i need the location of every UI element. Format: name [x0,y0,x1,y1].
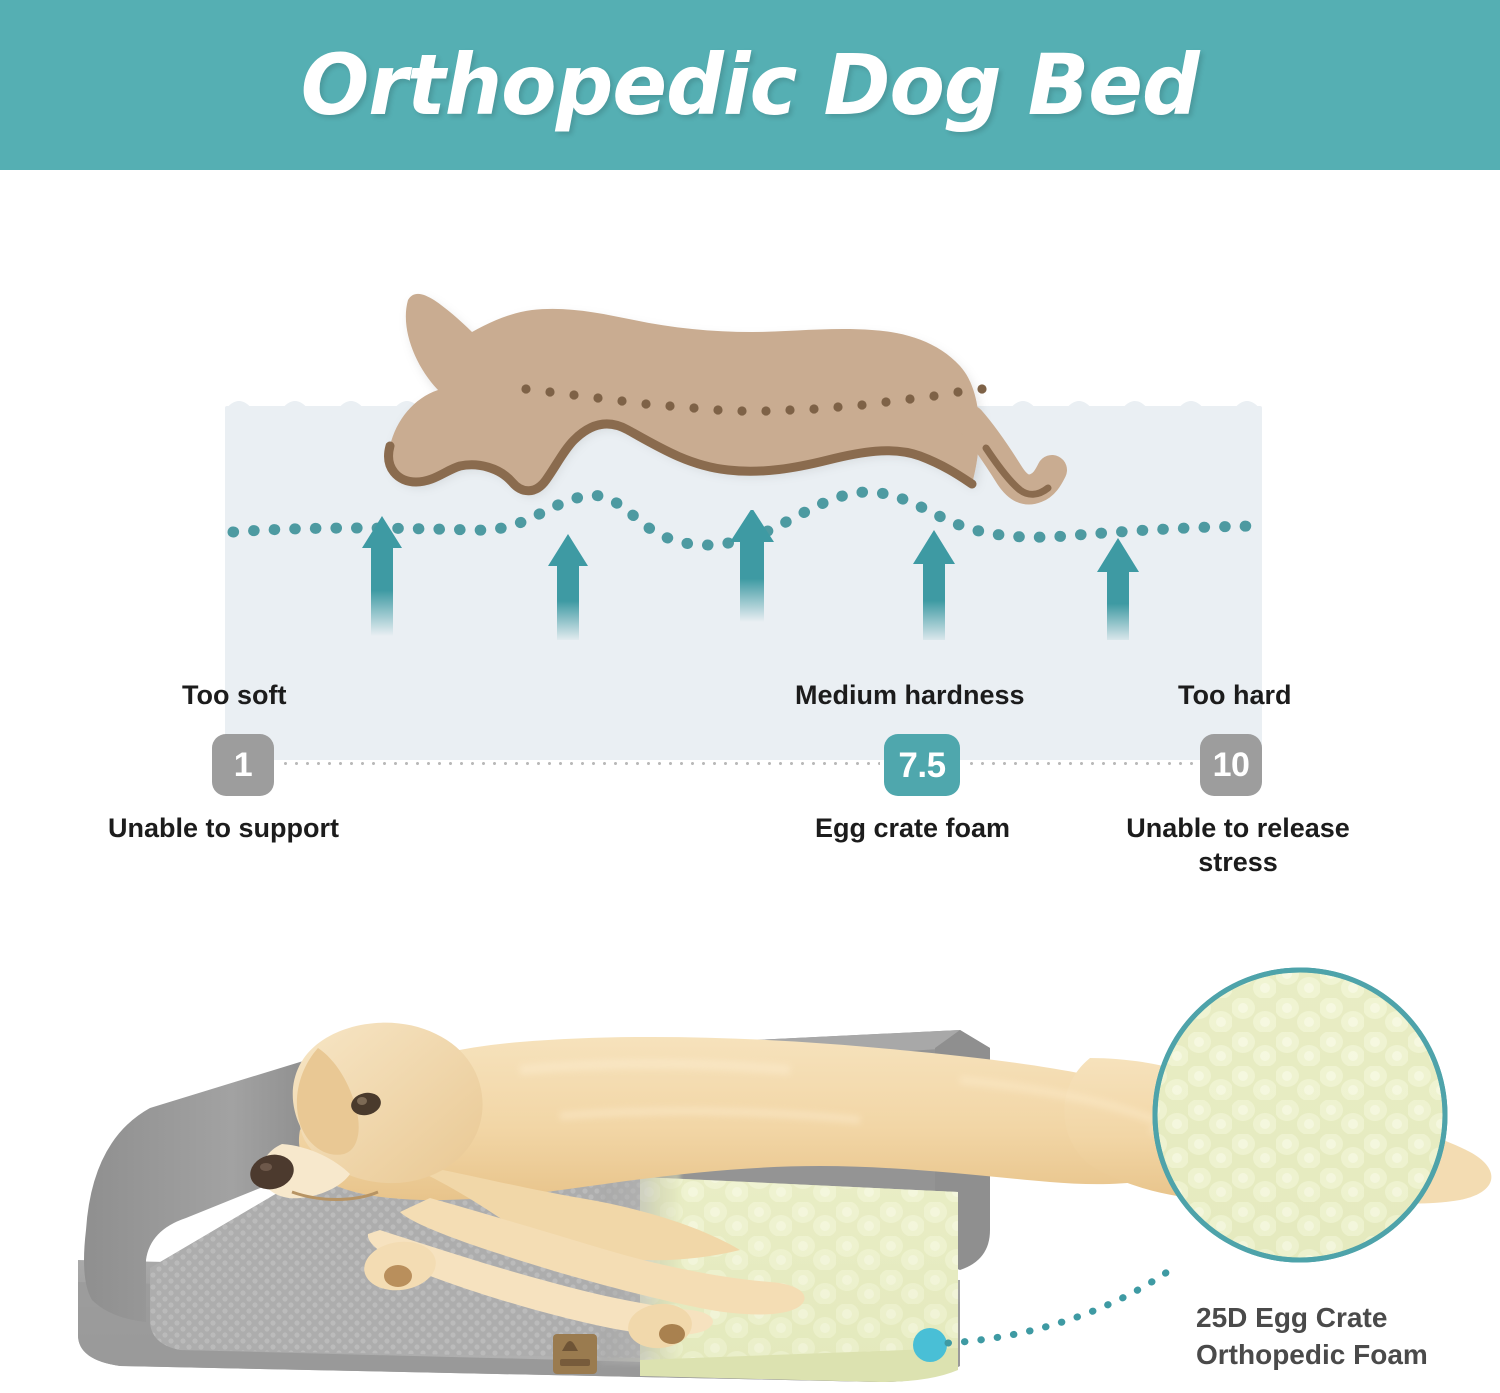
support-diagram [0,170,1500,640]
brand-tag [553,1334,597,1374]
callout-label-line1: 25D Egg Crate [1196,1300,1428,1337]
scale-top-label-soft: Too soft [182,680,286,711]
scale-badge-1: 1 [212,734,274,796]
scale-connector-left [280,762,880,765]
scale-badge-7-5: 7.5 [884,734,960,796]
scale-top-label-hard: Too hard [1178,680,1291,711]
egg-crate-foam-circle [1155,970,1445,1260]
page-title: Orthopedic Dog Bed [301,36,1199,134]
scale-bottom-label-hard-line1: Unable to release [1113,812,1363,846]
scale-bottom-label-hard-line2: stress [1113,846,1363,880]
callout-leader-line [948,1270,1170,1343]
callout-label-line2: Orthopedic Foam [1196,1337,1428,1374]
scale-connector-right [966,762,1198,765]
header-banner: Orthopedic Dog Bed [0,0,1500,170]
callout-label: 25D Egg Crate Orthopedic Foam [1196,1300,1428,1374]
scale-bottom-label-medium: Egg crate foam [815,812,1010,846]
foam-marker-dot [913,1328,947,1362]
support-arrows-icon [340,510,1180,640]
scale-badge-10: 10 [1200,734,1262,796]
scale-top-label-medium: Medium hardness [795,680,1025,711]
scale-bottom-label-soft: Unable to support [108,812,339,846]
scale-bottom-label-hard: Unable to release stress [1113,812,1363,880]
